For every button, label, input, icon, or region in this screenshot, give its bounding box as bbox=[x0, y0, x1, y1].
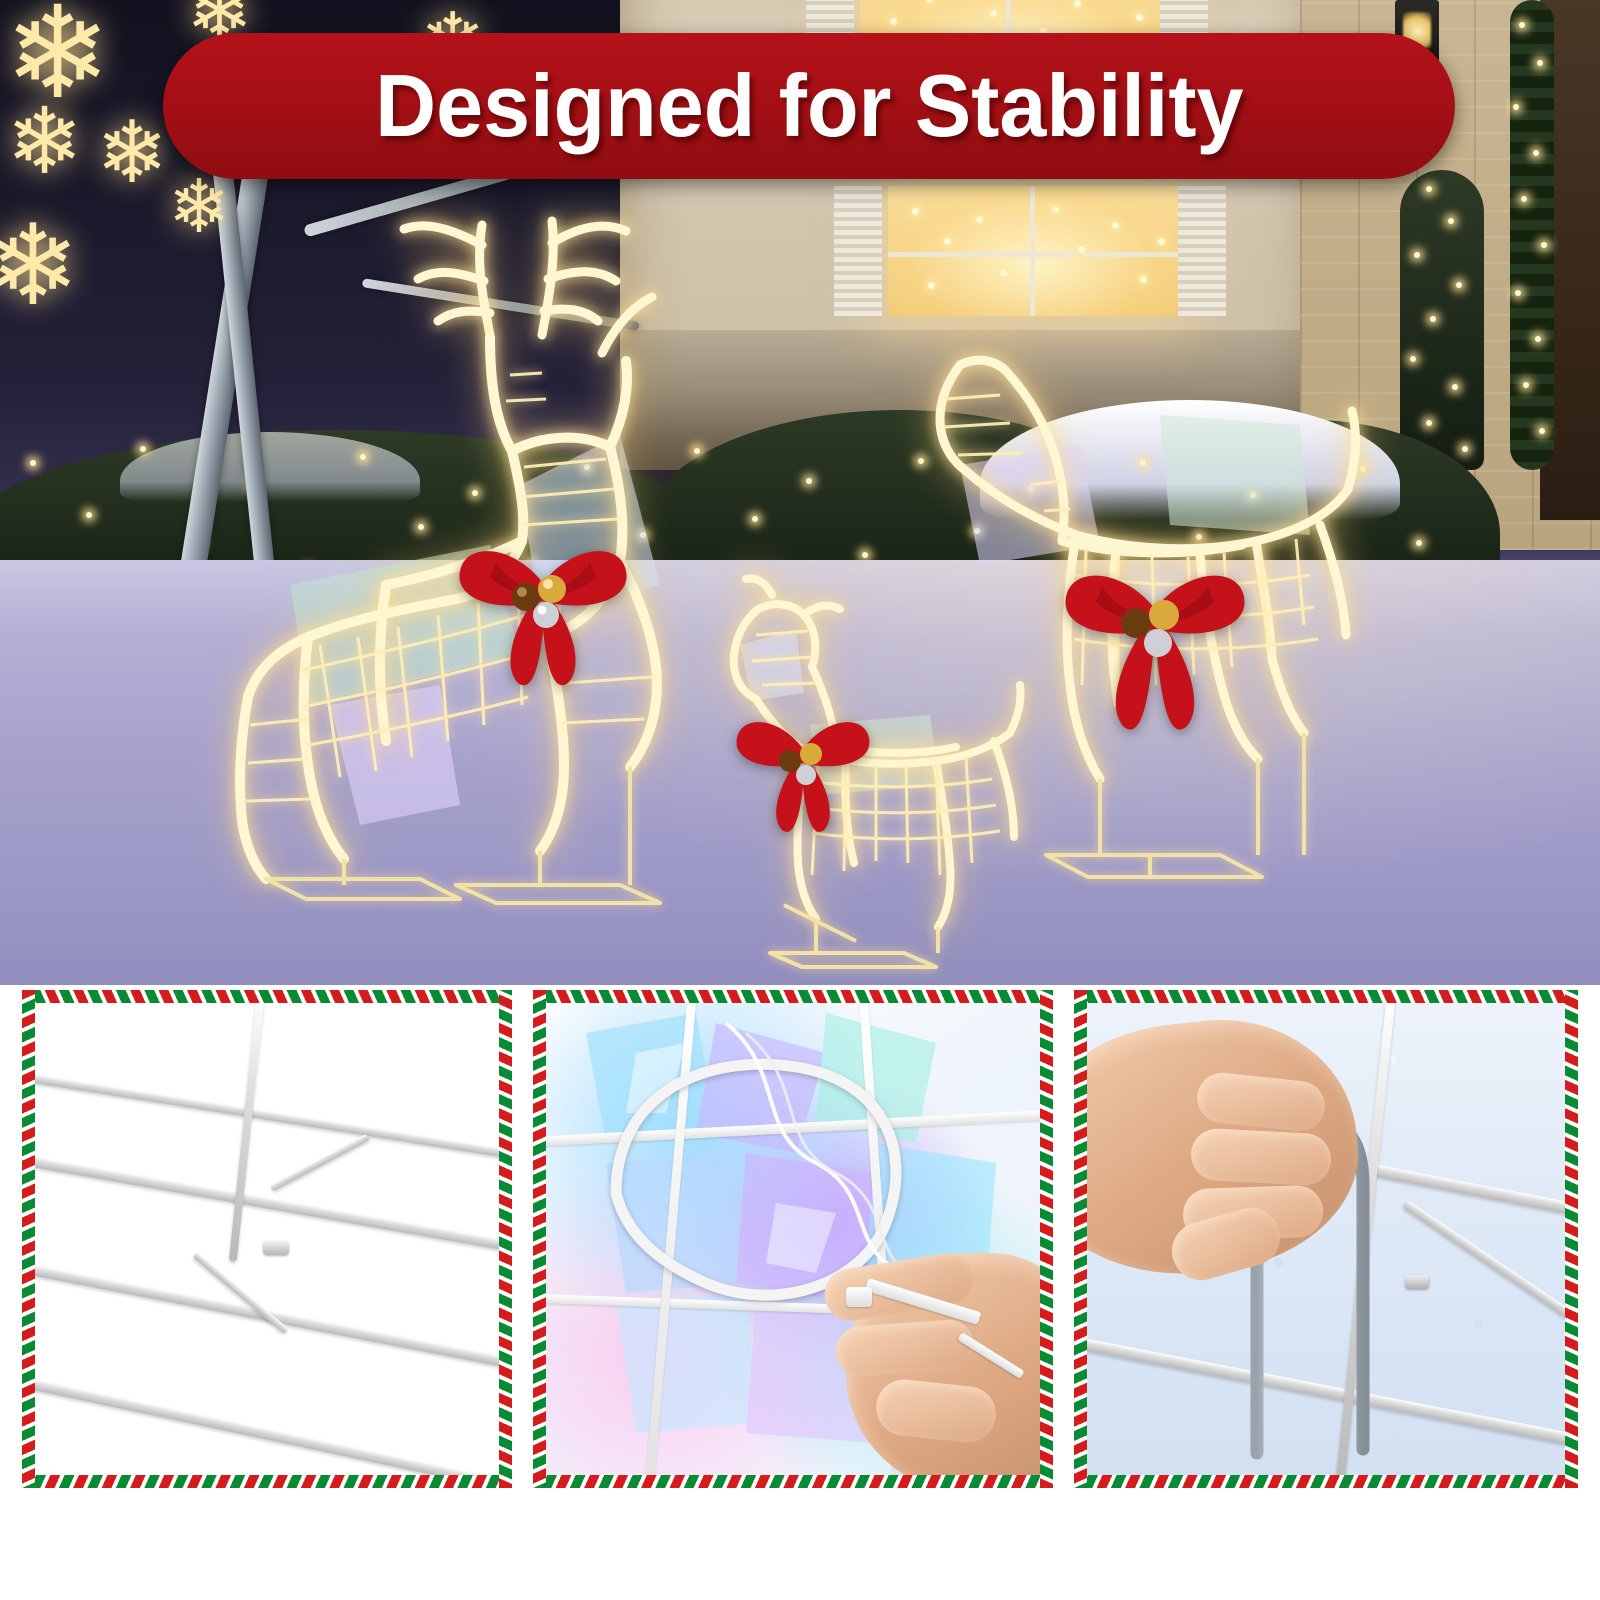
red-bow-buck bbox=[448, 505, 638, 695]
reindeer-doe bbox=[900, 355, 1360, 915]
base-brace-upper bbox=[269, 1134, 369, 1192]
panel-ground-stakes[interactable] bbox=[1074, 990, 1578, 1488]
indoor-christmas-tree-lights bbox=[888, 186, 1178, 316]
red-bow-fawn bbox=[728, 687, 878, 852]
reindeer-buck bbox=[190, 185, 730, 905]
panel-stable-base[interactable] bbox=[22, 990, 512, 1488]
base-vertical-post bbox=[229, 1003, 265, 1262]
feature-panels: Stable Base bbox=[0, 985, 1600, 1600]
picture-window-shutter-left bbox=[834, 186, 882, 316]
picture-window-shutter-right bbox=[1178, 186, 1226, 316]
base-rod-4 bbox=[35, 1375, 499, 1475]
panel-zip-ties[interactable] bbox=[533, 990, 1053, 1488]
panel-stable-base-image bbox=[35, 1003, 499, 1475]
snowflake-light-ornament-2: ❄ bbox=[6, 96, 83, 188]
zip-tie-head bbox=[846, 1287, 872, 1307]
middle-finger bbox=[834, 1318, 975, 1378]
base-rod-1 bbox=[35, 1071, 499, 1167]
base-joint-clip bbox=[263, 1241, 289, 1255]
title-banner: Designed for Stability bbox=[163, 33, 1455, 179]
picture-window bbox=[888, 186, 1178, 316]
banner-title: Designed for Stability bbox=[375, 55, 1243, 157]
panel-zip-ties-image bbox=[546, 1003, 1040, 1475]
hero-scene: ❄ ❄ ❄ ❄ ❄ ❄ ❄ bbox=[0, 0, 1600, 985]
snowflake-light-ornament-3: ❄ bbox=[96, 110, 168, 196]
red-bow-doe bbox=[1050, 525, 1260, 740]
garland-right-lights bbox=[1505, 0, 1561, 470]
panel-ground-stakes-image bbox=[1087, 1003, 1565, 1475]
product-feature-graphic: ❄ ❄ ❄ ❄ ❄ ❄ ❄ bbox=[0, 0, 1600, 1600]
base-brace-lower bbox=[193, 1252, 289, 1334]
stake-base-joint bbox=[1405, 1275, 1429, 1289]
stake-middle-finger bbox=[1190, 1127, 1333, 1186]
snowflake-light-ornament-5: ❄ bbox=[0, 210, 80, 322]
